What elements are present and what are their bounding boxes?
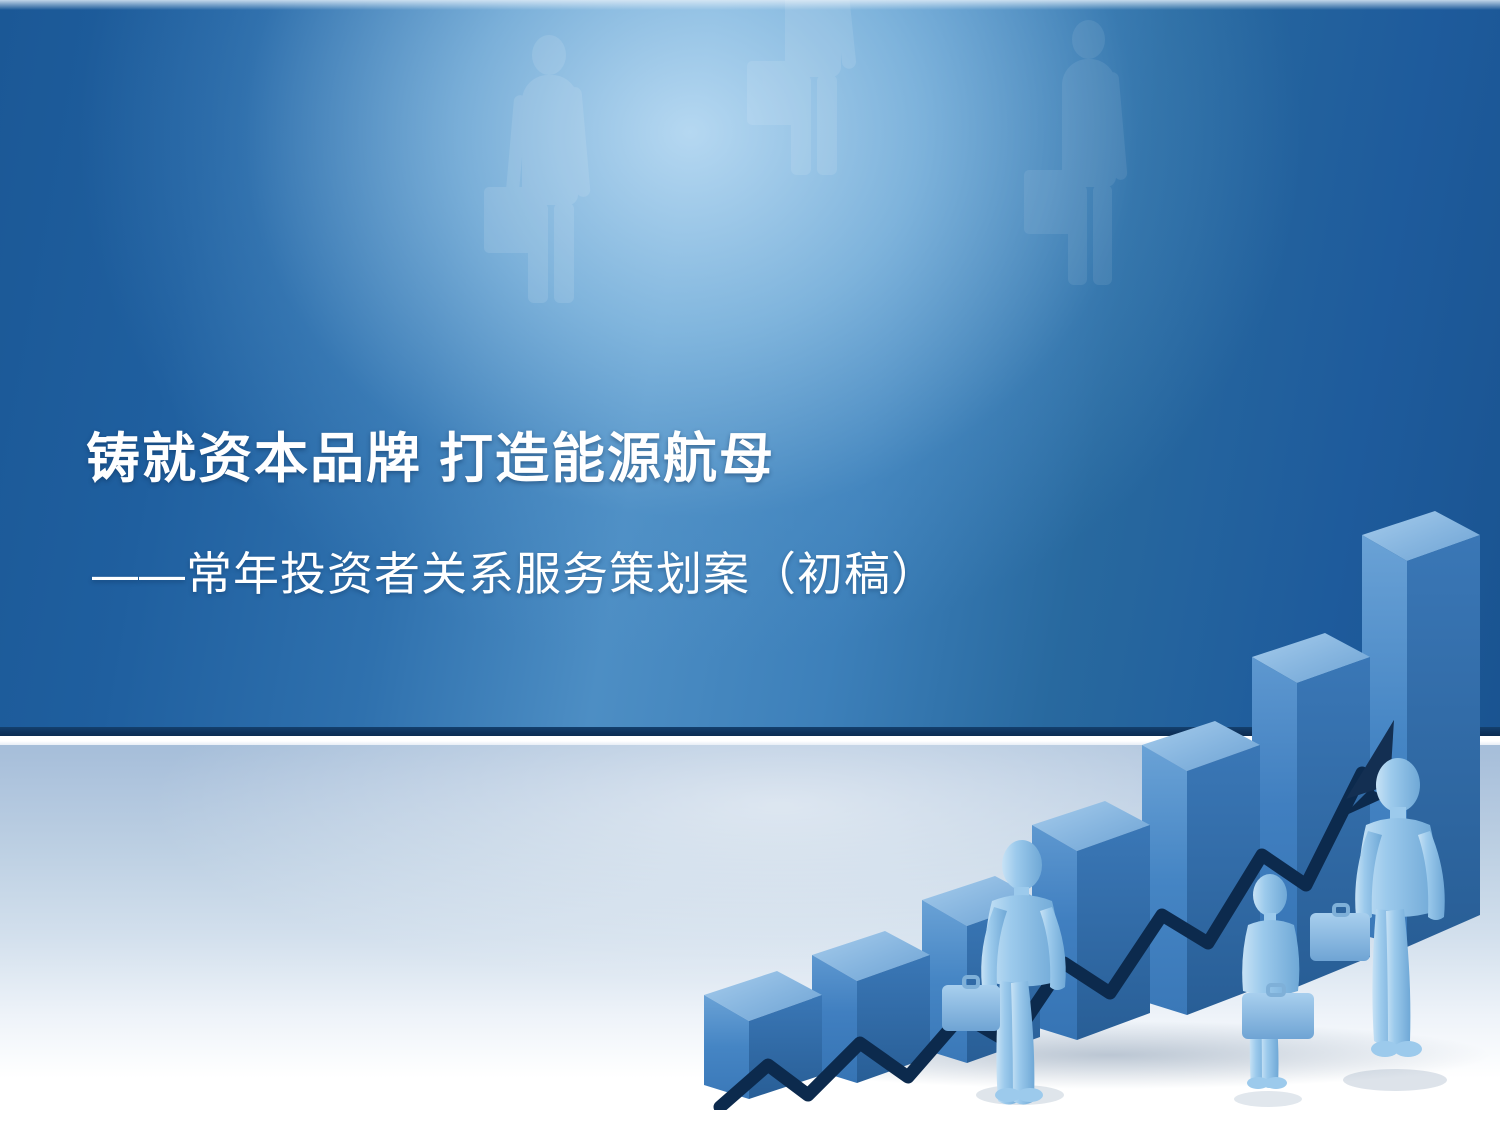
page-title: 铸就资本品牌 打造能源航母 xyxy=(86,414,775,493)
ghost-figure-3 xyxy=(1020,20,1160,290)
briefcase-right xyxy=(1310,905,1370,961)
page-subtitle: ——常年投资者关系服务策划案（初稿） xyxy=(92,538,938,604)
ghost-figure-1 xyxy=(480,35,620,305)
briefcase-middle xyxy=(1242,985,1314,1039)
bar-1 xyxy=(704,971,822,1099)
ghost-figure-2 xyxy=(745,0,885,180)
bar-2 xyxy=(812,931,930,1083)
presentation-slide: 铸就资本品牌 打造能源航母 ——常年投资者关系服务策划案（初稿） xyxy=(0,0,1500,1125)
briefcase-left xyxy=(942,977,1000,1031)
